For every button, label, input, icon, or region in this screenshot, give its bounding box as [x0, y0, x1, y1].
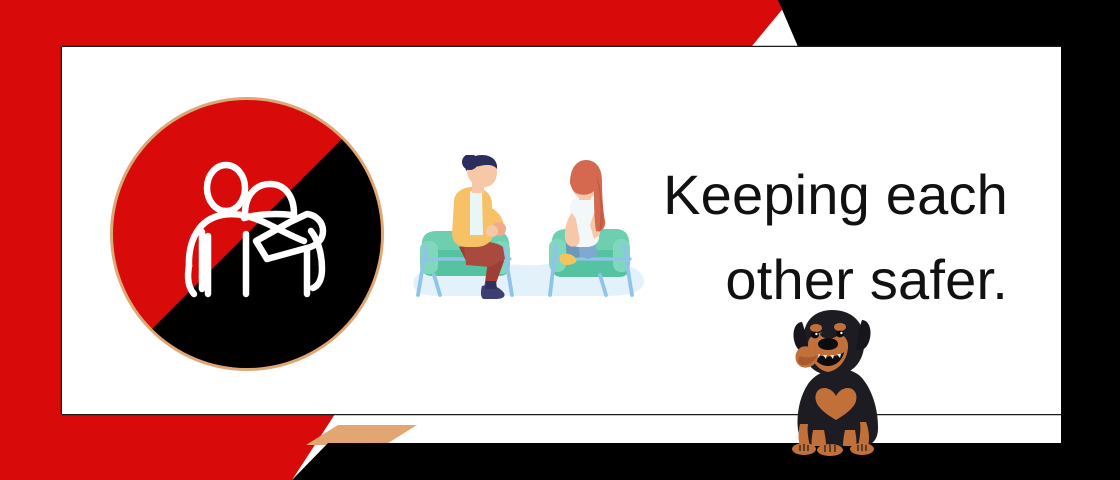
- dog-head: [793, 310, 870, 375]
- red-background-bottom-band: [0, 414, 335, 480]
- rottweiler-dog-illustration: [778, 308, 898, 460]
- two-people-embracing-logo: [104, 91, 390, 377]
- black-right-bar: [1061, 70, 1120, 443]
- black-corner-bottom-right: [292, 443, 1120, 480]
- page-headline: Keeping each other safer.: [548, 152, 1008, 322]
- dog-body: [792, 369, 878, 456]
- safety-banner: Keeping each other safer.: [0, 0, 1120, 480]
- red-background-top-band: [0, 0, 790, 46]
